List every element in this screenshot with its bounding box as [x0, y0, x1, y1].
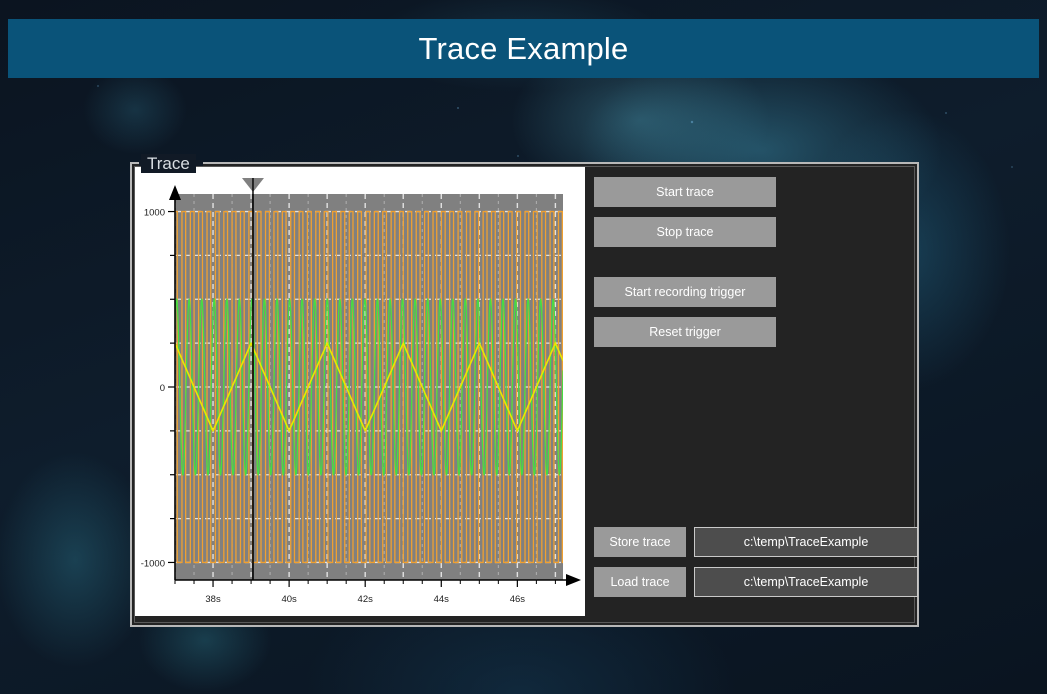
- page-title: Trace Example: [419, 31, 629, 67]
- store-trace-button[interactable]: Store trace: [594, 527, 686, 557]
- load-trace-button[interactable]: Load trace: [594, 567, 686, 597]
- desktop-background: Trace Example Trace 10000-100038s40s42s4…: [0, 0, 1047, 694]
- svg-text:46s: 46s: [510, 594, 526, 605]
- svg-text:-1000: -1000: [141, 558, 165, 569]
- plot-area[interactable]: 10000-100038s40s42s44s46s: [135, 167, 585, 616]
- trace-plot-svg[interactable]: 10000-100038s40s42s44s46s: [135, 167, 585, 616]
- svg-text:40s: 40s: [281, 594, 297, 605]
- trace-groupbox: Trace 10000-100038s40s42s44s46s Start tr…: [130, 154, 919, 627]
- svg-text:38s: 38s: [205, 594, 221, 605]
- store-path-input[interactable]: c:\temp\TraceExample: [694, 527, 918, 557]
- app-header: Trace Example: [8, 19, 1039, 78]
- svg-text:1000: 1000: [144, 208, 165, 219]
- svg-text:0: 0: [160, 383, 165, 394]
- svg-text:42s: 42s: [358, 594, 374, 605]
- trace-chart-panel[interactable]: 10000-100038s40s42s44s46s: [135, 167, 585, 616]
- start-trace-button[interactable]: Start trace: [594, 177, 776, 207]
- load-path-input[interactable]: c:\temp\TraceExample: [694, 567, 918, 597]
- groupbox-legend: Trace: [141, 154, 196, 173]
- svg-text:44s: 44s: [434, 594, 450, 605]
- stop-trace-button[interactable]: Stop trace: [594, 217, 776, 247]
- reset-trigger-button[interactable]: Reset trigger: [594, 317, 776, 347]
- start-recording-trigger-button[interactable]: Start recording trigger: [594, 277, 776, 307]
